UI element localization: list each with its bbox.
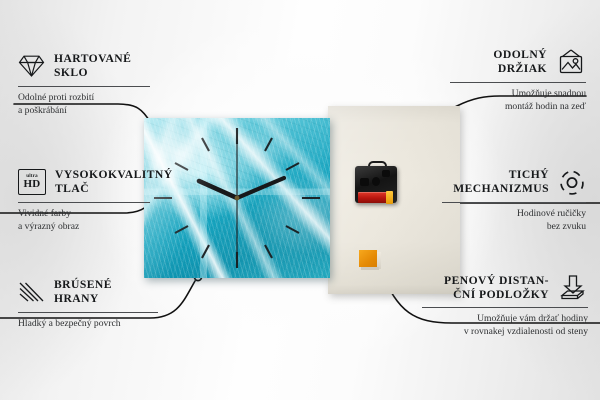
- feature-divider: [422, 307, 588, 308]
- feature-title-line-1: ODOLNÝ: [493, 48, 547, 61]
- feature-title-line-2: MECHANIZMUS: [453, 182, 549, 195]
- feature-tempered-glass: HARTOVANÉ SKLO Odolné proti rozbití a po…: [18, 52, 150, 117]
- foam-pad-top: [359, 250, 377, 267]
- mechanism-battery: [358, 192, 392, 203]
- feature-title-line-2: DRŽIAK: [498, 62, 547, 75]
- ultra-hd-icon-large-text: HD: [23, 179, 40, 190]
- arrow-down-onto-pad-icon: [558, 275, 588, 301]
- feature-title-line-2: ČNÍ PODLOŽKY: [453, 288, 549, 301]
- clock-face: [144, 118, 330, 278]
- feature-divider: [18, 202, 150, 203]
- feature-divider: [18, 86, 150, 87]
- feature-desc-line-1: Hladký a bezpečný povrch: [18, 318, 121, 329]
- feature-desc-line-2: a výrazný obraz: [18, 221, 79, 232]
- feature-divider: [450, 82, 586, 83]
- clock-face-gloss: [144, 118, 330, 278]
- feature-silent-mechanism: TICHÝ MECHANIZMUS Hodinové ručičky bez z…: [442, 168, 586, 233]
- feature-desc-line-2: bez zvuku: [547, 221, 586, 232]
- feature-desc-line-2: a poškrábání: [18, 105, 67, 116]
- feature-divider: [18, 312, 158, 313]
- gear-icon: [558, 169, 586, 196]
- feature-desc-line-2: montáž hodin na zeď: [505, 101, 586, 112]
- feature-title-line-2: TLAČ: [55, 182, 89, 195]
- infographic-canvas: HARTOVANÉ SKLO Odolné proti rozbití a po…: [0, 0, 600, 400]
- feature-title-line-1: PENOVÝ DISTAN-: [444, 274, 549, 287]
- mechanism-knob-2: [372, 177, 380, 186]
- feature-title-line-2: HRANY: [54, 292, 99, 305]
- feature-high-quality-print: ultra HD VYSOKOKVALITNÝ TLAČ Vividné far…: [18, 168, 150, 233]
- foam-pad-base: [361, 267, 379, 270]
- feature-title-line-2: SKLO: [54, 66, 88, 79]
- feature-title-line-1: BRÚSENÉ: [54, 278, 112, 291]
- mechanism-knob-3: [382, 170, 390, 177]
- diamond-icon: [18, 54, 45, 78]
- feature-title-line-1: VYSOKOKVALITNÝ: [55, 168, 173, 181]
- ultra-hd-icon: ultra HD: [18, 169, 46, 195]
- quartz-clock-mechanism: [355, 161, 397, 203]
- foam-distance-pad: [359, 250, 381, 270]
- picture-hanger-icon: [556, 49, 586, 75]
- mechanism-knob-1: [360, 178, 369, 186]
- mechanism-body: [355, 166, 397, 203]
- diagonal-lines-icon: [18, 281, 45, 303]
- feature-desc-line-2: v rovnakej vzdialenosti od steny: [464, 326, 588, 337]
- feature-desc-line-1: Vividné farby: [18, 208, 71, 219]
- feature-durable-holder: ODOLNÝ DRŽIAK Umožňuje snadnou montáž ho…: [450, 48, 586, 113]
- battery-positive-terminal: [386, 191, 393, 204]
- feature-desc-line-1: Umožňuje snadnou: [512, 88, 586, 99]
- feature-desc-line-1: Umožňuje vám držať hodiny: [477, 313, 588, 324]
- product-photo: [128, 100, 468, 300]
- feature-foam-spacers: PENOVÝ DISTAN- ČNÍ PODLOŽKY Umožňuje vám…: [422, 274, 588, 338]
- feature-desc-line-1: Odolné proti rozbití: [18, 92, 94, 103]
- feature-ground-edges: BRÚSENÉ HRANY Hladký a bezpečný povrch: [18, 278, 158, 331]
- feature-divider: [442, 202, 586, 203]
- feature-title-line-1: TICHÝ: [509, 168, 549, 181]
- feature-desc-line-1: Hodinové ručičky: [517, 208, 586, 219]
- feature-title-line-1: HARTOVANÉ: [54, 52, 131, 65]
